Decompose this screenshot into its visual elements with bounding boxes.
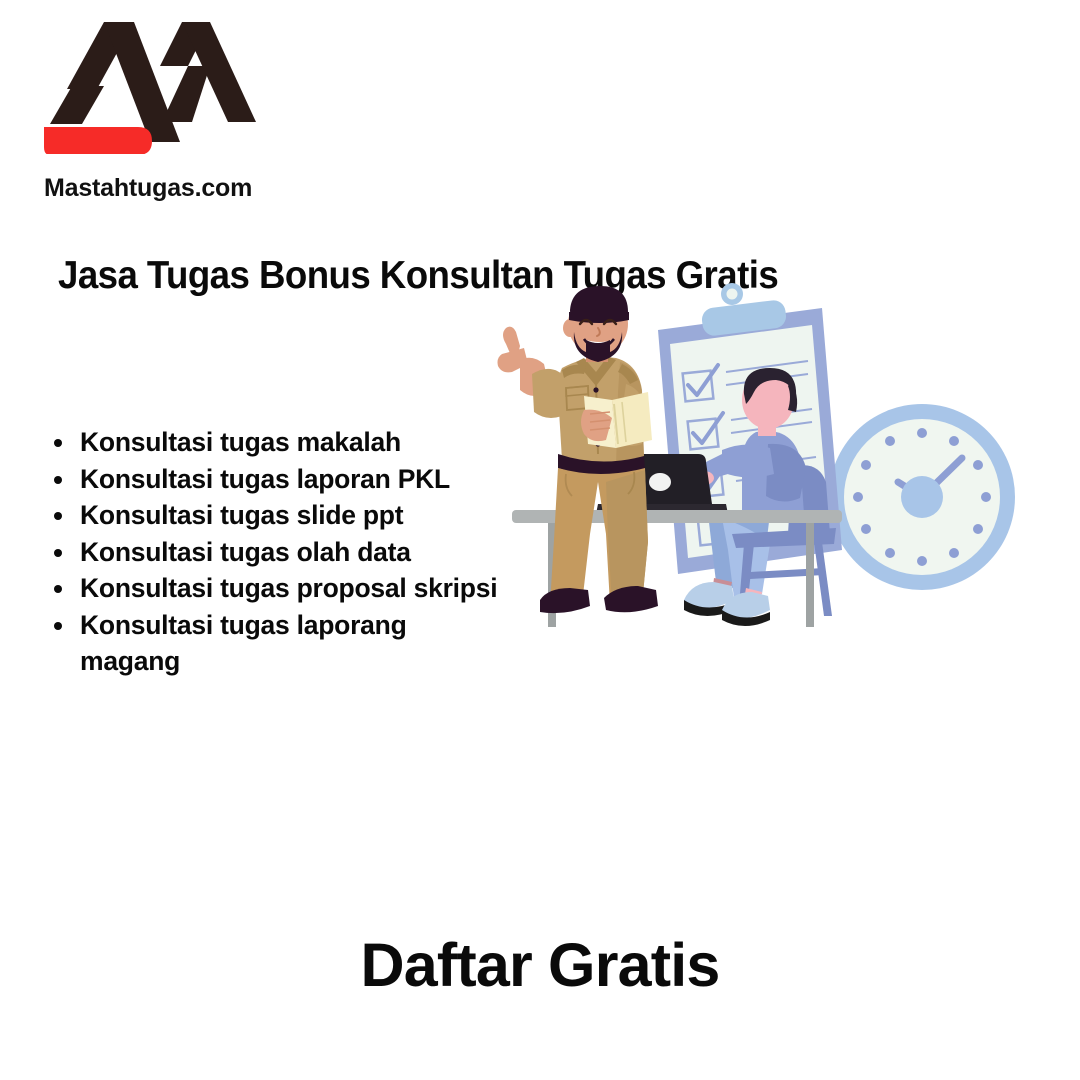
- list-item: Konsultasi tugas makalah: [80, 424, 510, 460]
- list-item: Konsultasi tugas laporan PKL: [80, 461, 510, 497]
- list-item: Konsultasi tugas proposal skripsi: [80, 570, 510, 606]
- standing-consultant-figure: [498, 286, 659, 613]
- list-item: Konsultasi tugas olah data: [80, 534, 510, 570]
- hero-illustration: [470, 282, 1040, 632]
- benefits-list: Konsultasi tugas makalah Konsultasi tuga…: [36, 424, 510, 679]
- am-monogram-logo-icon: [42, 14, 257, 154]
- list-item: Konsultasi tugas slide ppt: [80, 497, 510, 533]
- cta-heading[interactable]: Daftar Gratis: [0, 930, 1080, 1000]
- poster-canvas: Mastahtugas.com Jasa Tugas Bonus Konsult…: [0, 0, 1080, 1080]
- wall-clock-icon: [829, 404, 1015, 590]
- brand-wordmark: Mastahtugas.com: [44, 174, 252, 203]
- list-item: Konsultasi tugas laporang magang: [80, 607, 510, 679]
- brand-logo-block[interactable]: Mastahtugas.com: [42, 14, 302, 204]
